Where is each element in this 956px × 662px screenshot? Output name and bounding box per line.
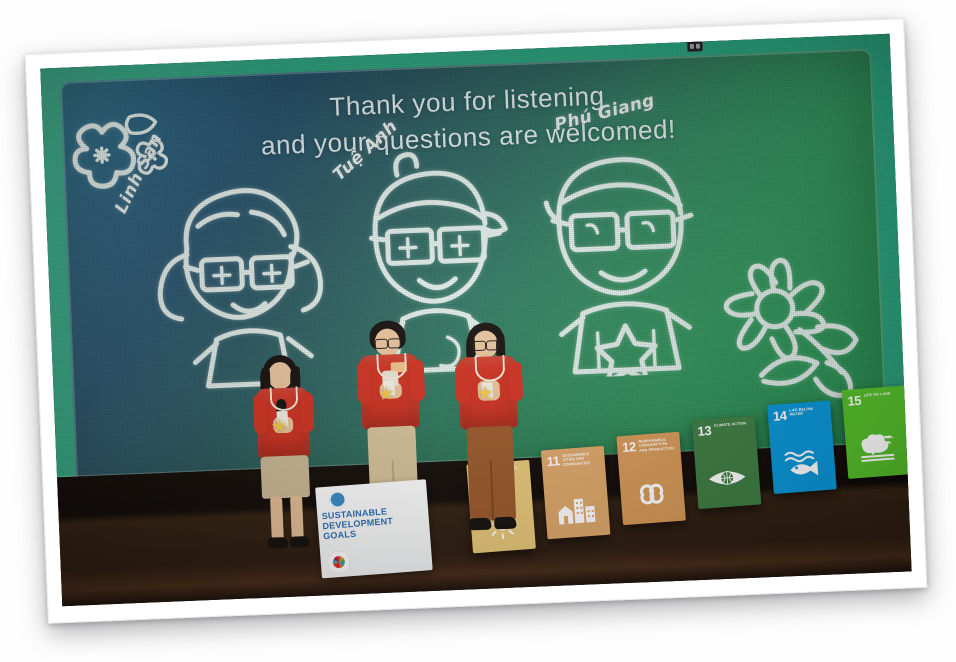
arm-left [454, 363, 470, 404]
arm-left [252, 394, 267, 434]
glasses [374, 339, 387, 350]
face [267, 362, 292, 390]
arm-right [507, 361, 523, 402]
shoe-right [494, 516, 516, 529]
photo-content: Thank you for listening and your questio… [40, 34, 911, 606]
podium-banner-title: SUSTAINABLE DEVELOPMENT GOALS [322, 503, 430, 541]
shirt-star-graphic: ★ [270, 417, 288, 437]
photo-frame: Thank you for listening and your questio… [25, 18, 928, 624]
student-right: ★ [451, 321, 532, 549]
un-emblem-icon [329, 491, 347, 509]
shoe-right [289, 536, 309, 548]
leg-skin-left [270, 496, 284, 540]
podium-sdg-banner: SUSTAINABLE DEVELOPMENT GOALS [315, 479, 432, 579]
student-left: ★ [248, 353, 327, 566]
glasses [472, 340, 485, 351]
glasses-right [485, 340, 498, 351]
shirt-star-graphic: ★ [476, 384, 494, 404]
shoe-left [267, 537, 287, 549]
screenshot-root: Thank you for listening and your questio… [0, 0, 956, 662]
arm-right [409, 359, 425, 402]
shoe-left [469, 517, 491, 530]
camera-sensor-icon [687, 40, 703, 52]
lanyard [474, 355, 505, 382]
leg-skin-right [290, 495, 304, 539]
arm-right [299, 392, 314, 432]
glasses-right [387, 338, 400, 349]
shirt-logo [390, 362, 406, 373]
sdg-color-wheel-icon [327, 550, 351, 574]
shorts [260, 455, 310, 499]
arm-left [356, 362, 372, 405]
shirt-star-graphic: ★ [377, 385, 395, 405]
